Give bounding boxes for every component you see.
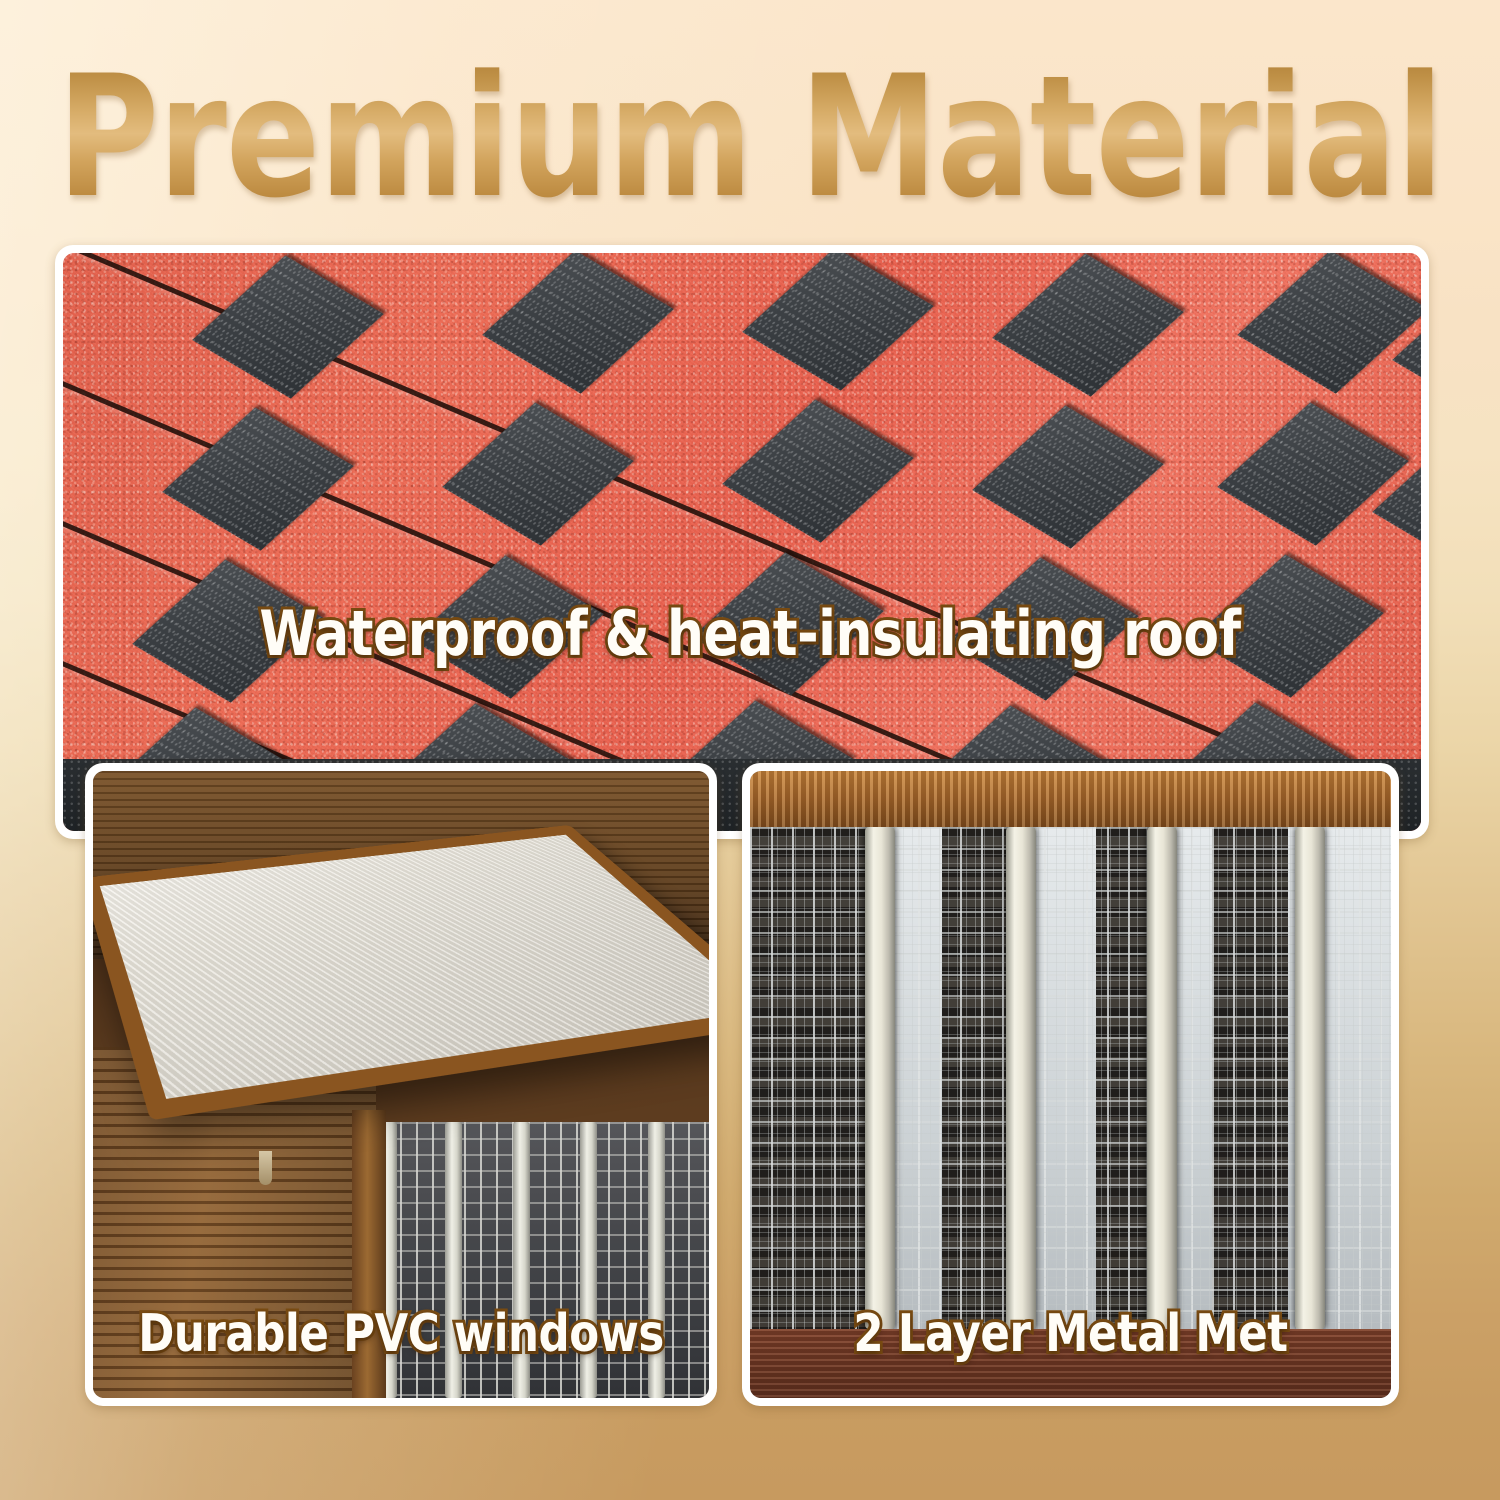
feature-card-roof <box>55 245 1429 839</box>
caption-pvc: Durable PVC windows <box>107 1304 695 1364</box>
mesh-panel-field <box>750 827 1391 1329</box>
caption-roof: Waterproof & heat-insulating roof <box>53 597 1448 670</box>
pvc-latch-hook <box>259 1151 272 1185</box>
mesh-top-wood-rail <box>750 771 1391 827</box>
page-title: Premium Material <box>57 53 1443 221</box>
page-title-container: Premium Material <box>0 52 1500 222</box>
caption-mesh: 2 Layer Metal Met <box>765 1304 1376 1364</box>
roof-photo <box>63 253 1421 831</box>
